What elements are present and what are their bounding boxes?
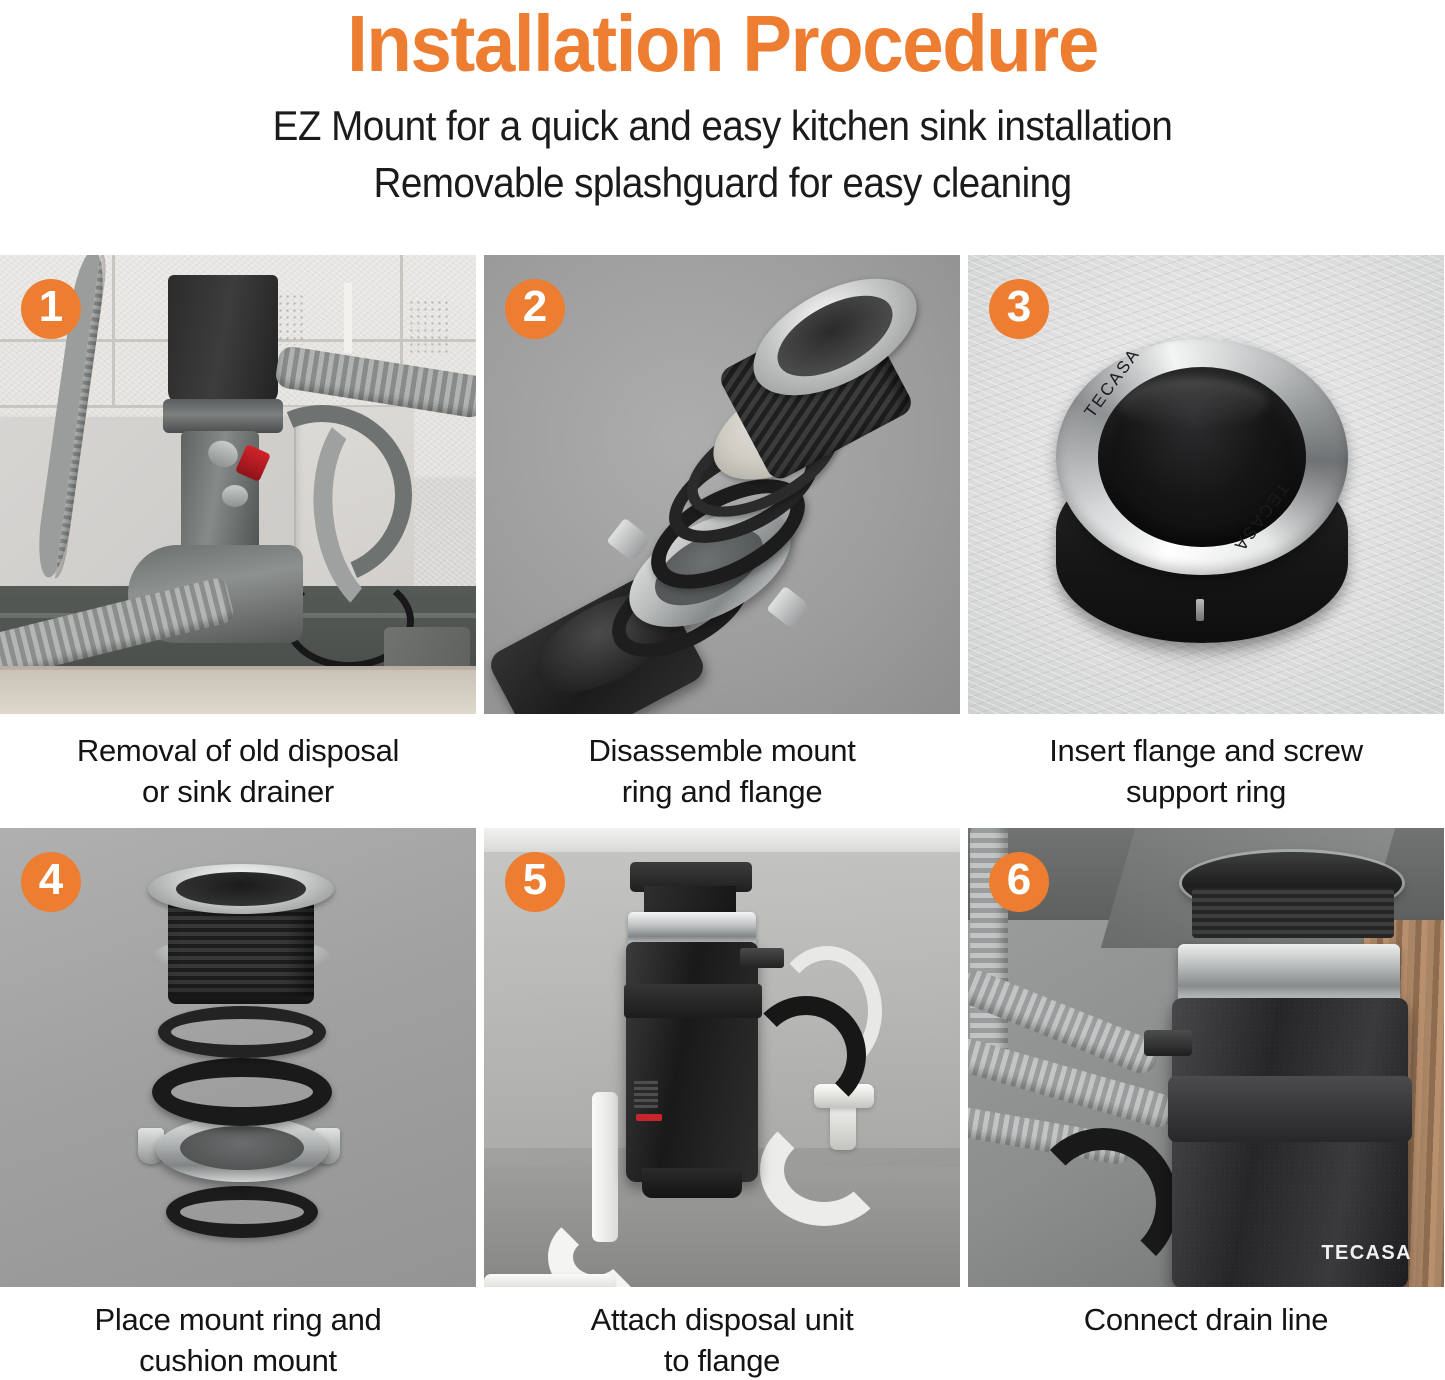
step-card-4: 4 Place mount ring and cushion mount: [0, 828, 476, 1380]
step-card-1: 1 Removal of old disposal or sink draine…: [0, 255, 476, 828]
step-card-3: TECASA TECASA 3 Insert flange and screw …: [968, 255, 1444, 828]
step-caption-2: Disassemble mount ring and flange: [484, 714, 960, 828]
step-image-6: TECASA 6: [968, 828, 1444, 1287]
header: Installation Procedure EZ Mount for a qu…: [0, 0, 1445, 210]
step-image-5: 5: [484, 828, 960, 1287]
step-badge-4: 4: [21, 852, 81, 912]
step-card-6: TECASA 6 Connect drain line: [968, 828, 1444, 1380]
subtitle-line-2: Removable splashguard for easy cleaning: [58, 156, 1387, 211]
step-image-4: 4: [0, 828, 476, 1287]
steps-grid: 1 Removal of old disposal or sink draine…: [0, 255, 1445, 1380]
step-caption-4: Place mount ring and cushion mount: [0, 1287, 476, 1380]
product-logo: TECASA: [1321, 1242, 1412, 1265]
step-caption-6: Connect drain line: [968, 1287, 1444, 1380]
step-card-2: 2 Disassemble mount ring and flange: [484, 255, 960, 828]
page-title: Installation Procedure: [51, 2, 1395, 85]
step-badge-2: 2: [505, 279, 565, 339]
step-image-1: 1: [0, 255, 476, 714]
step-image-3: TECASA TECASA 3: [968, 255, 1444, 714]
step-caption-3: Insert flange and screw support ring: [968, 714, 1444, 828]
step-badge-5: 5: [505, 852, 565, 912]
step-card-5: 5 Attach disposal unit to flange: [484, 828, 960, 1380]
infographic-page: Installation Procedure EZ Mount for a qu…: [0, 0, 1445, 1380]
step-caption-1: Removal of old disposal or sink drainer: [0, 714, 476, 828]
step-badge-3: 3: [989, 279, 1049, 339]
step-caption-5: Attach disposal unit to flange: [484, 1287, 960, 1380]
step-image-2: 2: [484, 255, 960, 714]
subtitle-line-1: EZ Mount for a quick and easy kitchen si…: [58, 99, 1387, 154]
step-badge-6: 6: [989, 852, 1049, 912]
step-badge-1: 1: [21, 279, 81, 339]
